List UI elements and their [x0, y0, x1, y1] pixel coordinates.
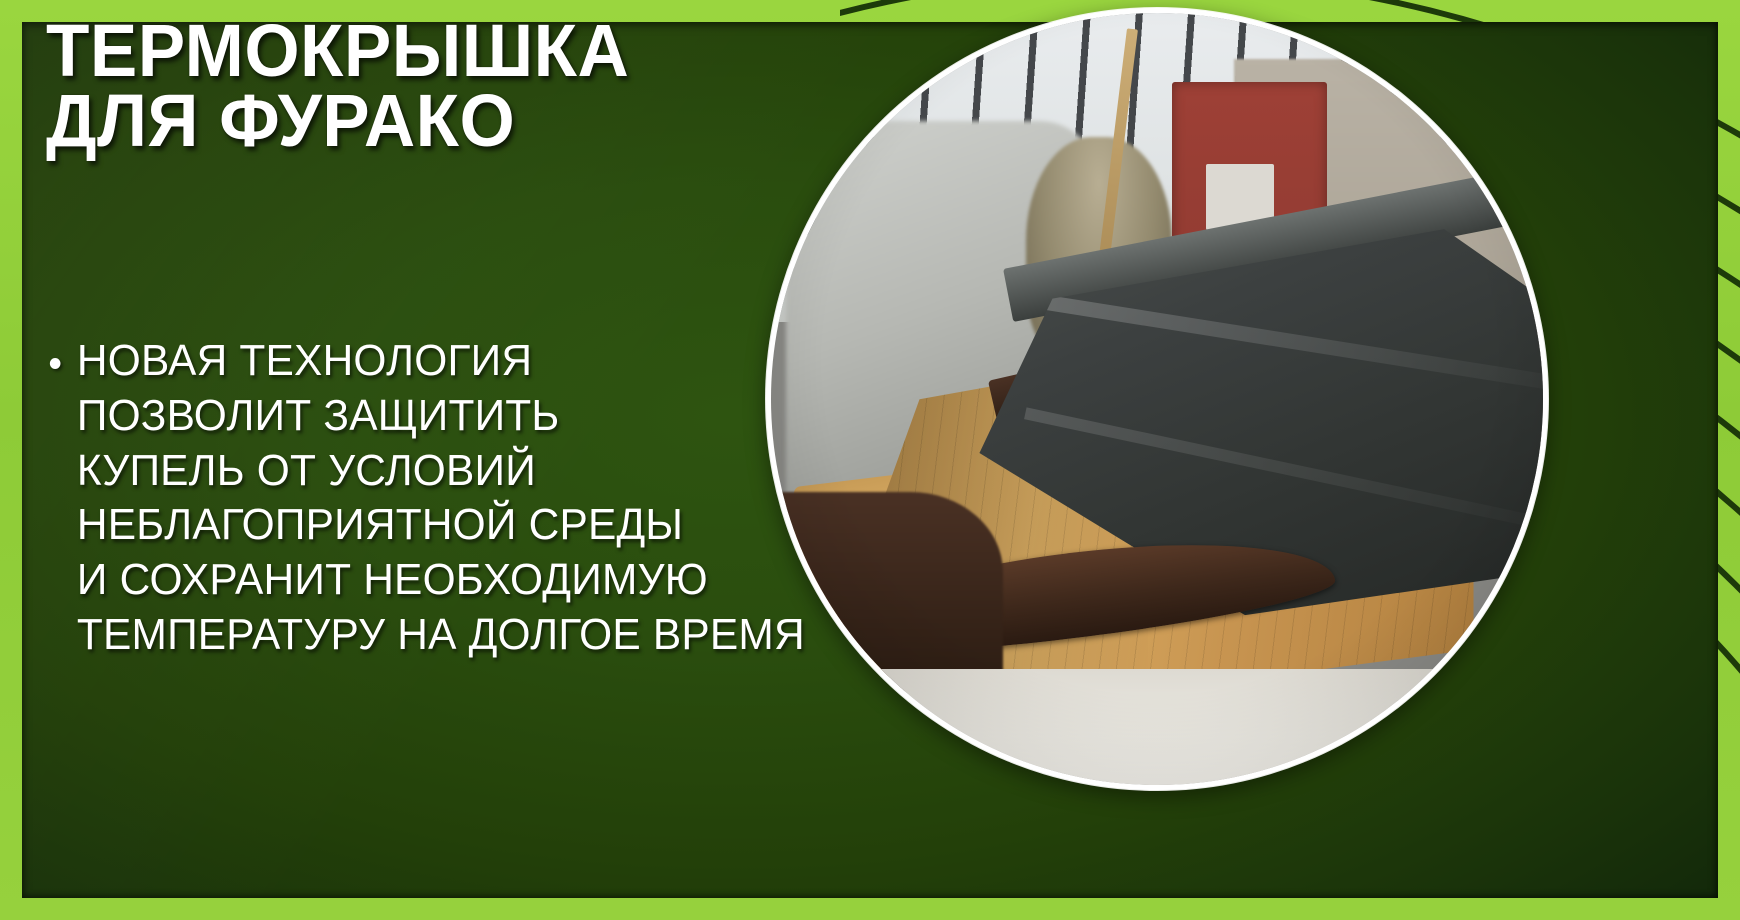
- floor: [771, 669, 1543, 785]
- list-item: НОВАЯ ТЕХНОЛОГИЯ ПОЗВОЛИТ ЗАЩИТИТЬ КУПЕЛ…: [46, 334, 895, 663]
- bullet-text-line: НЕБЛАГОПРИЯТНОЙ СРЕДЫ: [77, 498, 895, 553]
- page-title: ТЕРМОКРЫШКАДЛЯ ФУРАКО: [46, 16, 900, 155]
- feature-bullet-list: НОВАЯ ТЕХНОЛОГИЯ ПОЗВОЛИТ ЗАЩИТИТЬ КУПЕЛ…: [46, 334, 926, 663]
- text-column: ТЕРМОКРЫШКАДЛЯ ФУРАКО НОВАЯ ТЕХНОЛОГИЯ П…: [46, 16, 936, 155]
- bullet-dot-icon: [50, 358, 61, 369]
- bullet-text-line: И СОХРАНИТ НЕОБХОДИМУЮ: [77, 553, 895, 608]
- bullet-text-line: ТЕМПЕРАТУРУ НА ДОЛГОЕ ВРЕМЯ: [77, 608, 895, 663]
- bullet-text-line: КУПЕЛЬ ОТ УСЛОВИЙ: [77, 444, 895, 499]
- bullet-text-line: ПОЗВОЛИТ ЗАЩИТИТЬ: [77, 389, 895, 444]
- bullet-text-line: НОВАЯ ТЕХНОЛОГИЯ: [77, 334, 895, 389]
- headline-line-2: ДЛЯ ФУРАКО: [46, 86, 900, 156]
- promo-banner: ТЕРМОКРЫШКАДЛЯ ФУРАКО НОВАЯ ТЕХНОЛОГИЯ П…: [0, 0, 1740, 920]
